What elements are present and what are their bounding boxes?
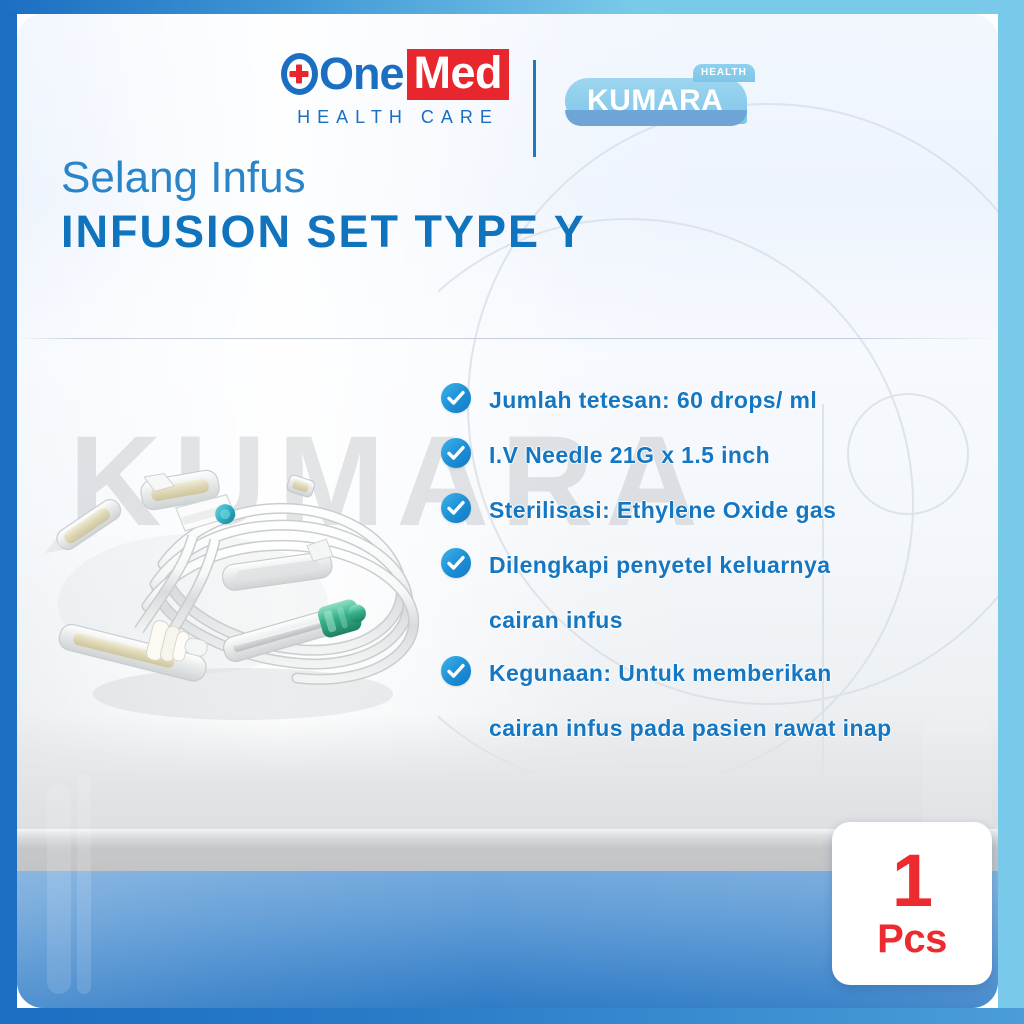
quantity-unit: Pcs: [877, 918, 947, 960]
title-block: Selang Infus INFUSION SET TYPE Y: [61, 152, 586, 258]
frame-right: [998, 0, 1024, 1024]
onemed-tagline: HEALTH CARE: [281, 107, 509, 128]
onemed-logo: One Med HEALTH CARE: [281, 50, 509, 128]
page-title: INFUSION SET TYPE Y: [61, 206, 586, 258]
feature-label: I.V Needle 21G x 1.5 inch: [489, 435, 770, 476]
list-item: I.V Needle 21G x 1.5 inch: [441, 435, 971, 476]
check-circle-icon: [441, 548, 471, 578]
brand-header: One Med HEALTH CARE HEALTH KUMARA: [17, 50, 998, 160]
onemed-med-text: Med: [407, 49, 510, 100]
check-circle-icon: [441, 493, 471, 523]
list-item: Sterilisasi: Ethylene Oxide gas: [441, 490, 971, 531]
cross-horizontal-bar: [290, 71, 309, 77]
onemed-one-text: One: [319, 52, 404, 96]
kumara-logo: HEALTH KUMARA: [565, 64, 755, 136]
feature-label: Kegunaan: Untuk memberikan: [489, 653, 832, 694]
feature-label: Jumlah tetesan: 60 drops/ ml: [489, 380, 817, 421]
medical-cross-circle-icon: [281, 53, 318, 95]
ghost-reflection-panel: [77, 774, 91, 994]
feature-label: Dilengkapi penyetel keluarnya: [489, 545, 830, 586]
feature-label: Sterilisasi: Ethylene Oxide gas: [489, 490, 836, 531]
frame-left: [0, 0, 17, 1024]
kumara-health-tab: HEALTH: [693, 64, 755, 82]
kumara-wordmark: KUMARA: [587, 84, 723, 118]
check-circle-icon: [441, 656, 471, 686]
check-circle-icon: [441, 438, 471, 468]
logo-separator: [533, 60, 536, 157]
header-divider-line: [17, 338, 998, 339]
onemed-wordmark: One Med: [281, 50, 509, 98]
list-item: Dilengkapi penyetel keluarnya: [441, 545, 971, 586]
product-subtitle: Selang Infus: [61, 152, 586, 204]
product-photo: [43, 444, 443, 744]
product-marketing-banner: KUMARA: [0, 0, 1024, 1024]
feature-list: Jumlah tetesan: 60 drops/ ml I.V Needle …: [441, 380, 971, 761]
check-circle-icon: [441, 383, 471, 413]
frame-bottom: [0, 1008, 1024, 1024]
list-item: Kegunaan: Untuk memberikan: [441, 653, 971, 694]
banner-card: KUMARA: [17, 14, 998, 1008]
quantity-number: 1: [892, 848, 932, 914]
frame-top: [0, 0, 1024, 14]
feature-label-continuation: cairan infus: [489, 600, 971, 641]
ghost-reflection-panel: [47, 784, 71, 994]
status-badge: 1 Pcs: [832, 822, 992, 985]
feature-label-continuation: cairan infus pada pasien rawat inap: [489, 708, 971, 749]
list-item: Jumlah tetesan: 60 drops/ ml: [441, 380, 971, 421]
